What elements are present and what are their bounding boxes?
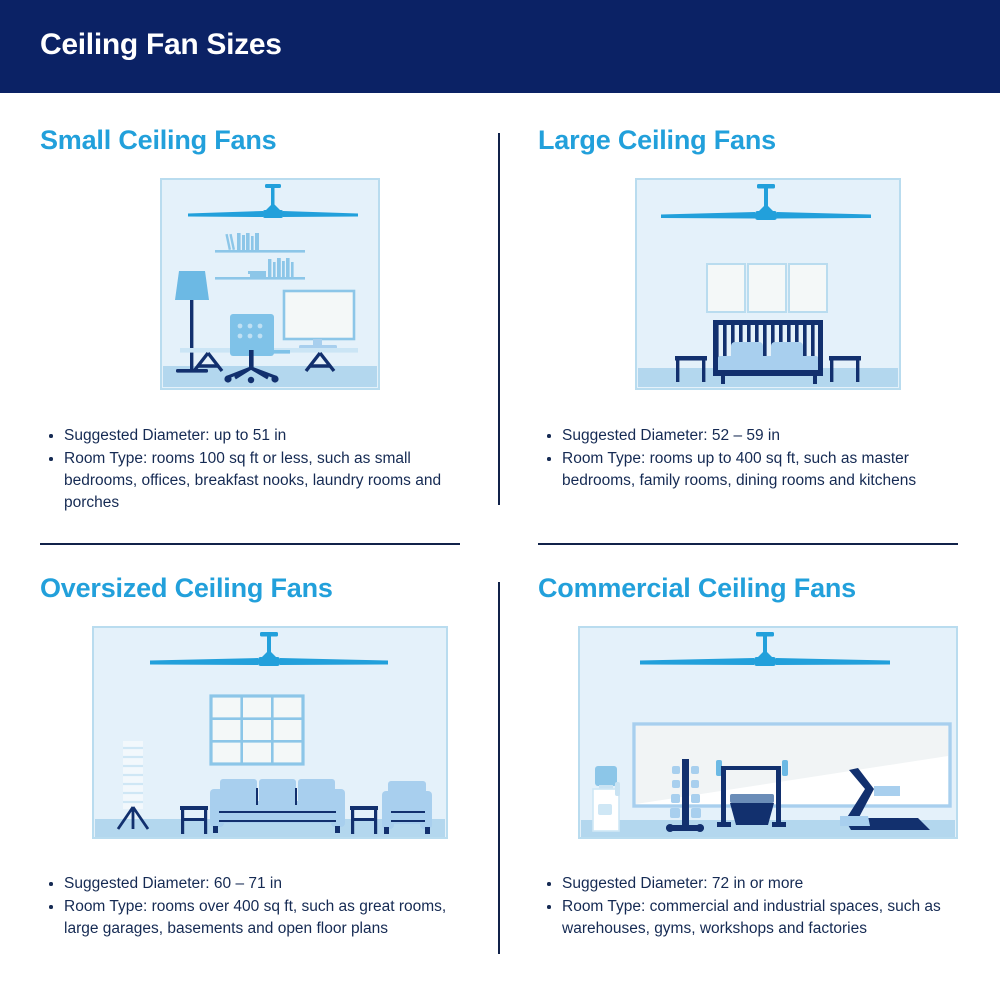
infographic-page: Ceiling Fan Sizes Small Ceiling Fans — [0, 0, 1000, 1000]
list-item: Room Type: rooms up to 400 sq ft, such a… — [538, 448, 958, 492]
divider-horizontal-left — [40, 543, 460, 545]
computer-monitor-icon — [284, 291, 354, 349]
illustration-living-room — [40, 626, 500, 839]
section-title-small: Small Ceiling Fans — [40, 126, 500, 156]
illustration-bedroom — [538, 178, 998, 390]
living-room-illustration — [92, 626, 448, 839]
mirror-wall — [634, 724, 950, 806]
wall-art-frames — [707, 264, 827, 312]
bullet-list-large: Suggested Diameter: 52 – 59 in Room Type… — [538, 425, 958, 493]
section-title-large: Large Ceiling Fans — [538, 126, 998, 156]
section-small-ceiling-fans: Small Ceiling Fans — [40, 126, 500, 390]
page-title: Ceiling Fan Sizes — [40, 28, 282, 62]
list-item: Suggested Diameter: 60 – 71 in — [40, 873, 480, 895]
section-commercial-ceiling-fans: Commercial Ceiling Fans — [538, 574, 998, 839]
divider-horizontal-right — [538, 543, 958, 545]
list-item: Room Type: rooms 100 sq ft or less, such… — [40, 448, 480, 514]
section-title-commercial: Commercial Ceiling Fans — [538, 574, 998, 604]
bedroom-room-illustration — [635, 178, 901, 390]
bullet-list-small: Suggested Diameter: up to 51 in Room Typ… — [40, 425, 480, 516]
page-header: Ceiling Fan Sizes — [0, 0, 1000, 93]
window-icon — [211, 696, 303, 764]
list-item: Suggested Diameter: up to 51 in — [40, 425, 480, 447]
bullet-list-oversized: Suggested Diameter: 60 – 71 in Room Type… — [40, 873, 480, 941]
list-item: Suggested Diameter: 72 in or more — [538, 873, 958, 895]
list-item: Room Type: rooms over 400 sq ft, such as… — [40, 896, 480, 940]
gym-warehouse-illustration — [578, 626, 958, 839]
illustration-home-office — [40, 178, 500, 390]
list-item: Room Type: commercial and industrial spa… — [538, 896, 958, 940]
water-cooler-icon — [593, 766, 620, 831]
section-large-ceiling-fans: Large Ceiling Fans — [538, 126, 998, 390]
section-title-oversized: Oversized Ceiling Fans — [40, 574, 500, 604]
section-oversized-ceiling-fans: Oversized Ceiling Fans — [40, 574, 500, 839]
illustration-gym — [538, 626, 998, 839]
bullet-list-commercial: Suggested Diameter: 72 in or more Room T… — [538, 873, 958, 941]
list-item: Suggested Diameter: 52 – 59 in — [538, 425, 958, 447]
home-office-room-illustration — [160, 178, 380, 390]
